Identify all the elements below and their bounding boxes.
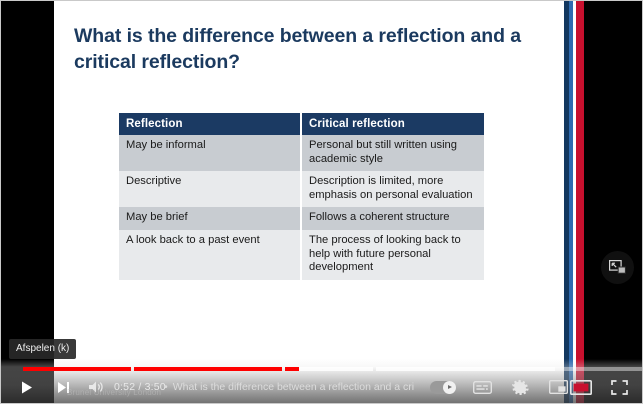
- subtitles-button[interactable]: [465, 371, 499, 403]
- table-row: A look back to a past event The process …: [119, 230, 484, 280]
- slide-stripe-red: [576, 1, 584, 404]
- player-button-row[interactable]: 0:52 / 3:50 • What is the difference bet…: [1, 371, 643, 403]
- video-title-text: What is the difference between a reflect…: [173, 381, 414, 393]
- table-header-row: Reflection Critical reflection: [119, 113, 484, 135]
- presentation-slide: What is the difference between a reflect…: [54, 1, 591, 404]
- autoplay-toggle[interactable]: [425, 371, 461, 403]
- settings-button[interactable]: [503, 371, 537, 403]
- autoplay-switch[interactable]: [430, 381, 456, 394]
- table-cell-critical: Description is limited, more emphasis on…: [301, 171, 484, 207]
- slide-title: What is the difference between a reflect…: [74, 23, 544, 75]
- table-row: Descriptive Description is limited, more…: [119, 171, 484, 207]
- subtitles-icon: [473, 381, 492, 394]
- table-cell-reflection: Descriptive: [119, 171, 301, 207]
- miniplayer-overlay-icon: [609, 260, 626, 275]
- channel-watermark: Brunel University London: [67, 388, 161, 397]
- table-cell-critical: The process of looking back to help with…: [301, 230, 484, 280]
- slide-stripe-black: [584, 1, 591, 404]
- theater-icon: [570, 380, 592, 395]
- column-header-critical-reflection: Critical reflection: [301, 113, 484, 135]
- overlay-miniplayer-button[interactable]: [601, 251, 634, 284]
- table-cell-critical: Personal but still written using academi…: [301, 135, 484, 171]
- table-cell-reflection: May be brief: [119, 207, 301, 230]
- volume-button[interactable]: [81, 371, 111, 403]
- theater-mode-button[interactable]: [564, 371, 598, 403]
- fullscreen-button[interactable]: [602, 371, 636, 403]
- next-video-button[interactable]: [49, 371, 79, 403]
- comparison-table: Reflection Critical reflection May be in…: [119, 113, 484, 280]
- play-button-tooltip: Afspelen (k): [9, 339, 76, 359]
- youtube-video-player[interactable]: What is the difference between a reflect…: [0, 0, 643, 404]
- table-row: May be brief Follows a coherent structur…: [119, 207, 484, 230]
- play-button[interactable]: [9, 371, 43, 403]
- time-display: 0:52 / 3:50: [114, 371, 166, 403]
- table-cell-reflection: A look back to a past event: [119, 230, 301, 280]
- table-row: May be informal Personal but still writt…: [119, 135, 484, 171]
- table-cell-reflection: May be informal: [119, 135, 301, 171]
- column-header-reflection: Reflection: [119, 113, 301, 135]
- play-icon: [19, 380, 34, 395]
- table-cell-critical: Follows a coherent structure: [301, 207, 484, 230]
- title-separator: •: [164, 381, 168, 393]
- video-stage[interactable]: What is the difference between a reflect…: [1, 1, 643, 404]
- video-title-bar[interactable]: • What is the difference between a refle…: [164, 371, 414, 403]
- fullscreen-icon: [611, 380, 628, 395]
- autoplay-knob: [443, 381, 456, 394]
- gear-icon: [512, 379, 529, 396]
